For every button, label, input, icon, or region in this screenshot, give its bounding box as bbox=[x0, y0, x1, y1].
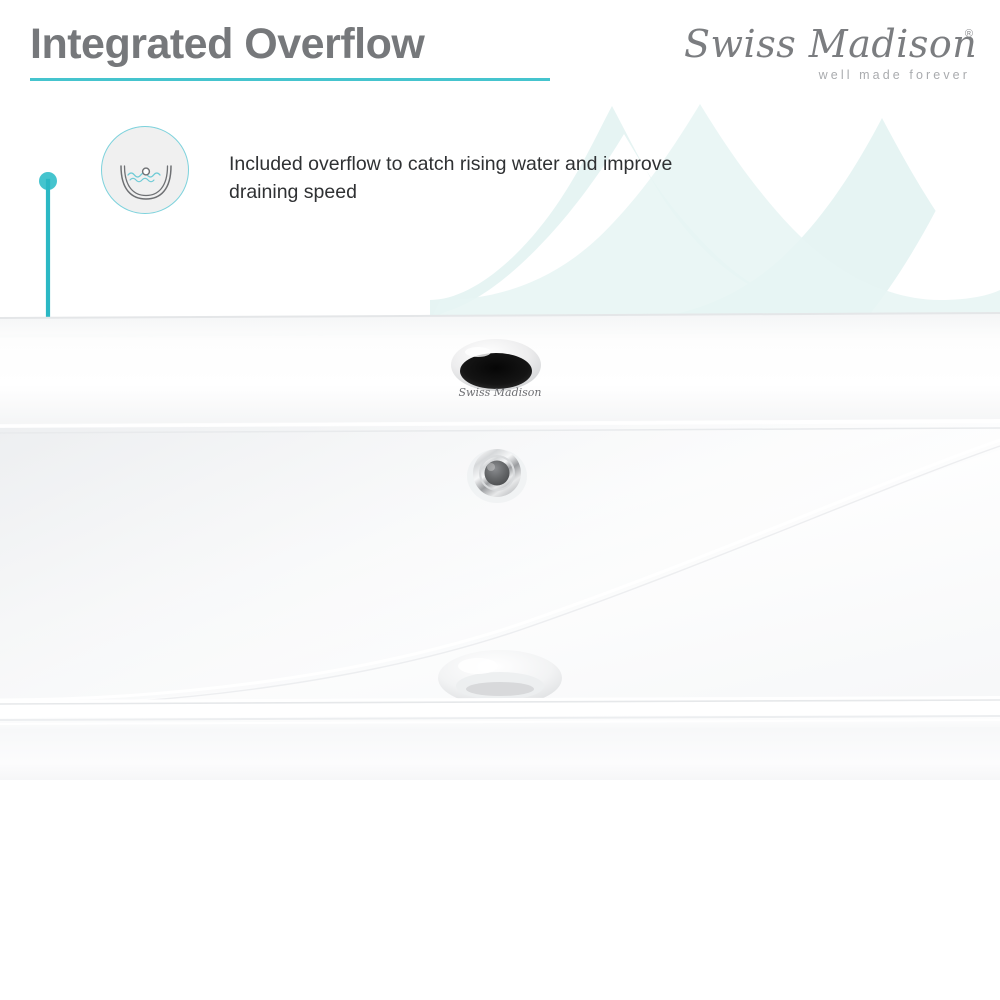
overflow-hole bbox=[451, 339, 541, 391]
chrome-overflow-drain bbox=[467, 449, 527, 503]
brand-tagline: well made forever bbox=[819, 68, 970, 82]
basin-overflow-icon bbox=[102, 127, 190, 215]
connector-origin-dot bbox=[39, 172, 57, 190]
feature-description: Included overflow to catch rising water … bbox=[229, 150, 709, 206]
basin-drain bbox=[438, 650, 562, 706]
product-photo-sink: Swiss Madison bbox=[0, 300, 1000, 780]
page-title: Integrated Overflow bbox=[30, 20, 424, 69]
feature-icon-badge bbox=[101, 126, 189, 214]
registered-trademark-icon: ® bbox=[965, 28, 973, 40]
header: Integrated Overflow Swiss Madison ® well… bbox=[0, 0, 1000, 110]
brand-wordmark: Swiss Madison bbox=[684, 22, 974, 66]
title-underline-rule bbox=[30, 78, 550, 81]
brand-logo: Swiss Madison ® well made forever bbox=[684, 22, 974, 90]
product-infographic: Integrated Overflow Swiss Madison ® well… bbox=[0, 0, 1000, 1000]
sink-brand-stamp: Swiss Madison bbox=[459, 386, 542, 399]
